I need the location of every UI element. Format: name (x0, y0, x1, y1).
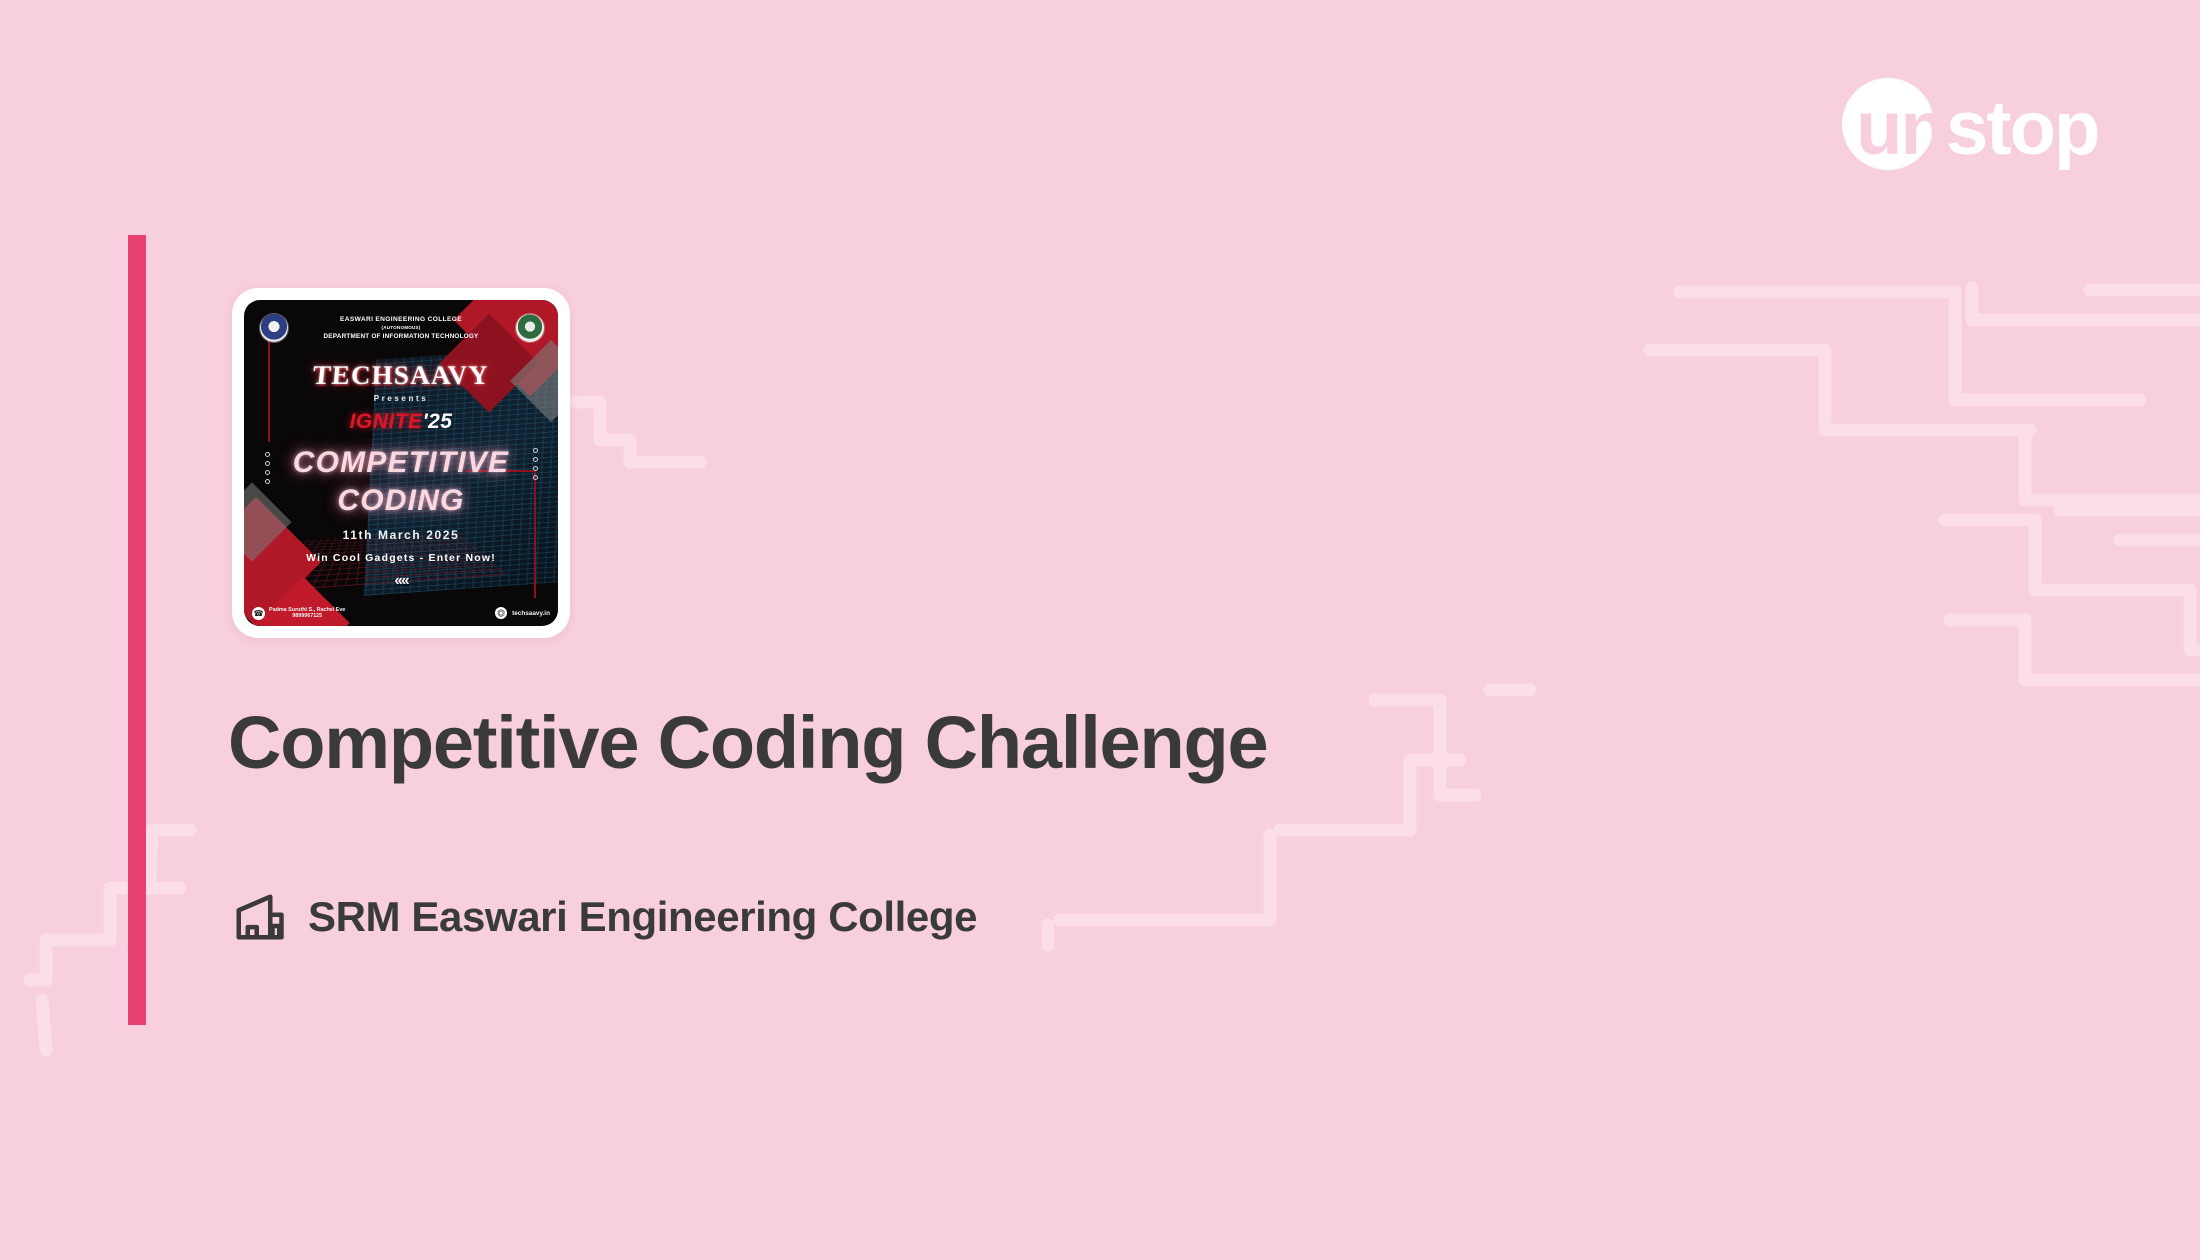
poster-contact-phone: 9899967125 (269, 613, 345, 620)
chevrons-left-icon: ‹‹‹‹ (244, 572, 558, 590)
poster-college-block: EASWARI ENGINEERING COLLEGE (AUTONOMOUS)… (244, 315, 558, 341)
page-title: Competitive Coding Challenge (228, 700, 1267, 785)
poster-autonomous: (AUTONOMOUS) (244, 325, 558, 332)
organization-row: SRM Easwari Engineering College (232, 890, 977, 944)
globe-icon: ⏣ (495, 607, 507, 619)
event-poster-image: EASWARI ENGINEERING COLLEGE (AUTONOMOUS)… (244, 300, 558, 626)
poster-contact-block: ☎ Padma Suruthi S., Rachel Eve 989996712… (252, 607, 345, 621)
poster-fest-name: IGNITE'25 (244, 410, 558, 434)
poster-footer: ☎ Padma Suruthi S., Rachel Eve 989996712… (252, 607, 550, 621)
poster-title-line1: COMPETITIVE (244, 446, 558, 480)
poster-fest-year: '25 (423, 410, 453, 433)
poster-presents-label: Presents (244, 394, 558, 403)
building-icon (232, 890, 286, 944)
poster-fest-title: IGNITE (350, 410, 423, 433)
poster-contact-name: Padma Suruthi S., Rachel Eve (269, 607, 345, 614)
logo-text-un: un (1856, 86, 1945, 170)
poster-event-date: 11th March 2025 (244, 528, 558, 542)
unstop-logo[interactable]: un stop (1842, 78, 2114, 170)
left-accent-bar (128, 235, 146, 1025)
phone-icon: ☎ (252, 607, 265, 620)
logo-text-stop: stop (1946, 86, 2098, 170)
poster-department: DEPARTMENT OF INFORMATION TECHNOLOGY (244, 332, 558, 342)
poster-title-line2: CODING (244, 484, 558, 518)
poster-website: techsaavy.in (512, 610, 550, 617)
event-poster-card[interactable]: EASWARI ENGINEERING COLLEGE (AUTONOMOUS)… (232, 288, 570, 638)
poster-tagline: Win Cool Gadgets - Enter Now! (244, 552, 558, 564)
poster-website-block: ⏣ techsaavy.in (495, 607, 550, 619)
poster-college-name: EASWARI ENGINEERING COLLEGE (340, 316, 462, 323)
organization-name: SRM Easwari Engineering College (308, 893, 977, 941)
poster-club-name: TECHSAAVY (244, 361, 558, 391)
